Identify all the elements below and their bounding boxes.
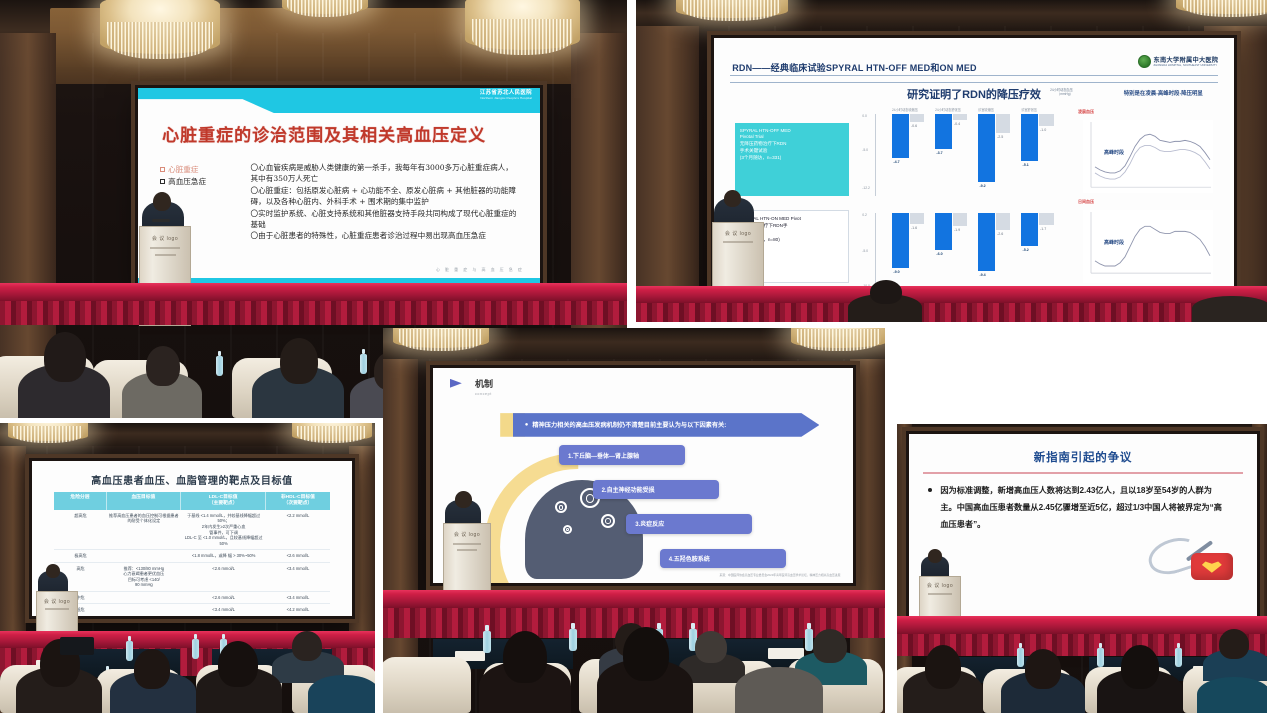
camera-phone [60, 637, 94, 655]
slide-note: 特别是在凌晨-高峰时段-降压明显 [1124, 89, 1203, 97]
speaker-head [46, 564, 60, 578]
hospital-seal-icon [1138, 55, 1151, 68]
table-header-row: 危险分层 血压目标值 LDL-C目标值 （主要靶点） 非HDL-C目标值 （次要… [54, 492, 329, 510]
bar-value-rdn: -9.0 [893, 270, 899, 274]
audience-shoulders [1197, 677, 1267, 713]
slide-key-terms: 心脏重症 高血压急症 [160, 164, 248, 188]
bar-value-rdn: -6.0 [936, 252, 942, 256]
water-bottle [360, 354, 367, 374]
bullet-icon: ● [525, 422, 529, 428]
hospital-logo: 东南大学附属中大医院 ZHONGDA HOSPITAL, SOUTHEAST U… [1138, 55, 1219, 68]
bar-chart-off-med: 0.0 -5.0 -12.2 24小时动态收缩压 -4.7 -0.6 24小时动… [875, 114, 1062, 196]
y-axis [875, 114, 876, 196]
chandelier [393, 328, 489, 348]
bar-sham [996, 213, 1011, 230]
bar-value-sham: -1.6 [911, 226, 917, 230]
photo-panel-bottom-right[interactable]: 新指南引起的争议 因为标准调整，新增高血压人数将达到2.43亿人，且以18岁至5… [897, 424, 1267, 713]
bar-value-rdn: -5.2 [1023, 248, 1029, 252]
microphone [152, 219, 170, 222]
audience-head [695, 631, 727, 663]
audience [383, 605, 885, 713]
bar-sham [1039, 114, 1054, 126]
slide-subtitle: concept [475, 392, 492, 396]
bar-sham [953, 213, 968, 226]
audience [897, 613, 1267, 713]
line-chart-top-label: 凌晨血压 [1078, 109, 1094, 115]
bar-value-sham: -1.9 [954, 228, 960, 232]
wood-column-left [636, 26, 699, 322]
line-chart-bottom-label: 日间血压 [1078, 199, 1094, 205]
chandelier [8, 423, 88, 441]
audience-head [280, 338, 318, 384]
audience-head [503, 631, 547, 683]
table-row: 极高危 <1.8 mmol/L，或降 幅 > 30%~50% <2.6 mmol… [54, 550, 329, 563]
bar-category-label: 诊室舒张压 [1021, 107, 1037, 112]
audience-head [146, 346, 180, 386]
line-chart-svg [1083, 210, 1213, 283]
bar-category-label: 诊室收缩压 [978, 107, 994, 112]
bar-value-sham: -1.0 [1040, 128, 1046, 132]
audience-head [1121, 645, 1159, 689]
chandelier [676, 0, 788, 18]
water-bottle [126, 641, 133, 661]
slide-footer: 心 脏 重 症 与 高 血 压 急 症 [436, 267, 524, 273]
water-bottle [569, 629, 577, 651]
chandelier [1176, 0, 1267, 14]
bar-sham [996, 114, 1011, 133]
bar-value-rdn: -5.1 [1023, 163, 1029, 167]
chair [383, 657, 471, 713]
y-tick: -12.2 [862, 186, 870, 190]
bar-rdn [892, 213, 909, 268]
bar-value-rdn: -9.4 [979, 273, 985, 277]
table-row: 高危 推荐：<130/80 mmHg 心力衰竭患者更优血压 目标可考虑 <140… [54, 563, 329, 592]
col-nonhdl: 非HDL-C目标值 （次要靶点） [266, 492, 329, 510]
speaker-head [455, 491, 472, 508]
medical-illustration [1142, 525, 1232, 583]
mechanism-item-1: 1.下丘脑—垂体—肾上腺轴 [559, 445, 685, 464]
audience-shoulders [308, 675, 375, 713]
water-bottle [1175, 648, 1182, 667]
chandelier [100, 0, 220, 54]
col-risk: 危险分层 [54, 492, 106, 510]
trial-box-off-med: SPYRAL HTN-OFF MED Pivotal Trial 无降压药物治疗… [735, 123, 849, 196]
projection-screen: 高血压患者血压、血脂管理的靶点及目标值 危险分层 血压目标值 LDL-C目标值 … [32, 461, 352, 616]
line-chart-svg [1083, 120, 1213, 193]
projection-screen: RDN——经典临床试验SPYRAL HTN-OFF MED和ON MED 东南大… [714, 38, 1234, 320]
photo-panel-center[interactable]: 机制 concept ● 精神压力相关的高血压发病机制仍不清楚目前主要认为与以下… [383, 328, 885, 713]
bar-rdn [935, 114, 952, 149]
hospital-logo: 江苏省苏北人民医院 Northern Jiangsu People's Hosp… [480, 91, 532, 100]
y-tick: 0.2 [862, 213, 867, 217]
water-bottle [805, 629, 813, 651]
speaker-head [928, 549, 942, 563]
bar-rdn [978, 114, 995, 182]
bar-value-sham: -0.6 [911, 124, 917, 128]
bullet-icon [928, 488, 932, 492]
audience-head [813, 629, 847, 663]
line-chart-annotation: 高峰时段 [1104, 239, 1124, 246]
y-tick: 0.0 [862, 114, 867, 118]
bar-value-sham: -1.7 [1040, 227, 1046, 231]
bar-value-rdn: -4.7 [893, 160, 899, 164]
mechanism-item-3: 3.炎症反应 [626, 514, 752, 533]
water-bottle [216, 356, 223, 376]
chandelier [282, 0, 368, 14]
targets-table: 危险分层 血压目标值 LDL-C目标值 （主要靶点） 非HDL-C目标值 （次要… [54, 492, 329, 616]
projection-screen: 新指南引起的争议 因为标准调整，新增高血压人数将达到2.43亿人，且以18岁至5… [909, 434, 1257, 616]
gear-icon [555, 501, 567, 513]
title-underline [923, 472, 1243, 473]
mechanism-item-2: 2.自主神经功能受损 [593, 480, 719, 499]
photo-panel-top-right[interactable]: RDN——经典临床试验SPYRAL HTN-OFF MED和ON MED 东南大… [636, 0, 1267, 322]
bar-chart-on-med: 0.2 -5.0 -10.0 -9.0 -1.6 -6.0 -1.9 [875, 213, 1062, 292]
audience-head [925, 645, 961, 689]
audience [0, 603, 375, 713]
water-bottle [192, 639, 199, 659]
nameplate [768, 648, 804, 659]
speaker-head [724, 190, 741, 207]
line-chart-morning-bp: 高峰时段 [1083, 120, 1213, 193]
audience-shoulders [735, 667, 823, 713]
heart-first-aid-icon [1191, 553, 1233, 580]
bar-sham [910, 114, 925, 122]
projection-screen: 江苏省苏北人民医院 Northern Jiangsu People's Hosp… [138, 88, 540, 283]
audience-head [870, 280, 902, 304]
line-chart-daytime-bp: 高峰时段 [1083, 210, 1213, 283]
audience [636, 282, 1267, 322]
header-rule-top [730, 75, 1219, 76]
audience-head [218, 641, 258, 687]
col-ldl: LDL-C目标值 （主要靶点） [181, 492, 266, 510]
chandelier [465, 0, 580, 50]
slide-title: 高血压患者血压、血脂管理的靶点及目标值 [32, 472, 352, 487]
mechanism-item-4: 4.五羟色胺系统 [660, 549, 786, 568]
stage-platform [0, 283, 627, 301]
water-bottle [483, 631, 491, 653]
audience-head [623, 627, 669, 681]
audience-head [1219, 629, 1249, 659]
audience-head [1025, 649, 1061, 689]
line-chart-annotation: 高峰时段 [1104, 149, 1124, 156]
photo-panel-bottom-left[interactable]: 高血压患者血压、血脂管理的靶点及目标值 危险分层 血压目标值 LDL-C目标值 … [0, 423, 375, 713]
section-marker-icon [450, 379, 462, 388]
speaker-head [153, 192, 171, 211]
water-bottle [1017, 648, 1024, 667]
y-axis [875, 213, 876, 292]
bar-value-rdn: -3.7 [936, 151, 942, 155]
slide-banner: ● 精神压力相关的高血压发病机制仍不清楚目前主要认为与以下因素有关: [513, 413, 820, 437]
axis-unit-label: 24小时动态血压（mmHg） [1050, 89, 1073, 97]
slide-body-text: 〇心血管疾病是威胁人类健康的第一杀手，我每年有3000多万心脏重症病人，其中有3… [251, 162, 520, 242]
bar-rdn [935, 213, 952, 250]
bar-value-sham: -2.6 [997, 232, 1003, 236]
slide-title: 新指南引起的争议 [909, 449, 1257, 465]
header-rule-bottom [730, 82, 1219, 83]
bar-rdn [978, 213, 995, 271]
bar-value-sham: -0.4 [954, 122, 960, 126]
bar-rdn [1021, 114, 1038, 161]
bar-rdn [892, 114, 909, 158]
y-tick: -5.0 [862, 249, 868, 253]
col-bp: 血压目标值 [107, 492, 181, 510]
table-row: 超高危 推荐高血压患者的血压控制可根据患者的耐受个体化设定 于基线 <1.4 m… [54, 510, 329, 550]
bar-category-label: 24小时动态舒张压 [935, 107, 961, 112]
y-tick: -5.0 [862, 148, 868, 152]
chandelier [292, 423, 372, 441]
audience-head [292, 631, 322, 661]
bar-value-sham: -2.5 [997, 135, 1003, 139]
slide-title: 机制 [475, 377, 493, 390]
audience-shoulders [1192, 296, 1267, 322]
slide-footer: 来源：中国医师协会高血压专业委员会2023年青年医师高血压学术论坛，精神压力相关… [720, 573, 841, 577]
audience-head [134, 649, 170, 689]
projection-screen: 机制 concept ● 精神压力相关的高血压发病机制仍不清楚目前主要认为与以下… [433, 368, 853, 583]
bar-category-label: 24小时动态收缩压 [892, 107, 918, 112]
bar-sham [953, 114, 968, 120]
bar-sham [910, 213, 925, 224]
bar-rdn [1021, 213, 1038, 246]
water-bottle [1097, 648, 1104, 667]
bar-sham [1039, 213, 1054, 225]
audience-head [44, 332, 86, 382]
slide-title: 心脏重症的诊治范围及其相关高血压定义 [162, 121, 524, 146]
slide-header: RDN——经典临床试验SPYRAL HTN-OFF MED和ON MED [732, 61, 977, 74]
photo-collage: 江苏省苏北人民医院 Northern Jiangsu People's Hosp… [0, 0, 1267, 713]
chandelier [791, 328, 885, 348]
bar-value-rdn: -9.2 [979, 184, 985, 188]
